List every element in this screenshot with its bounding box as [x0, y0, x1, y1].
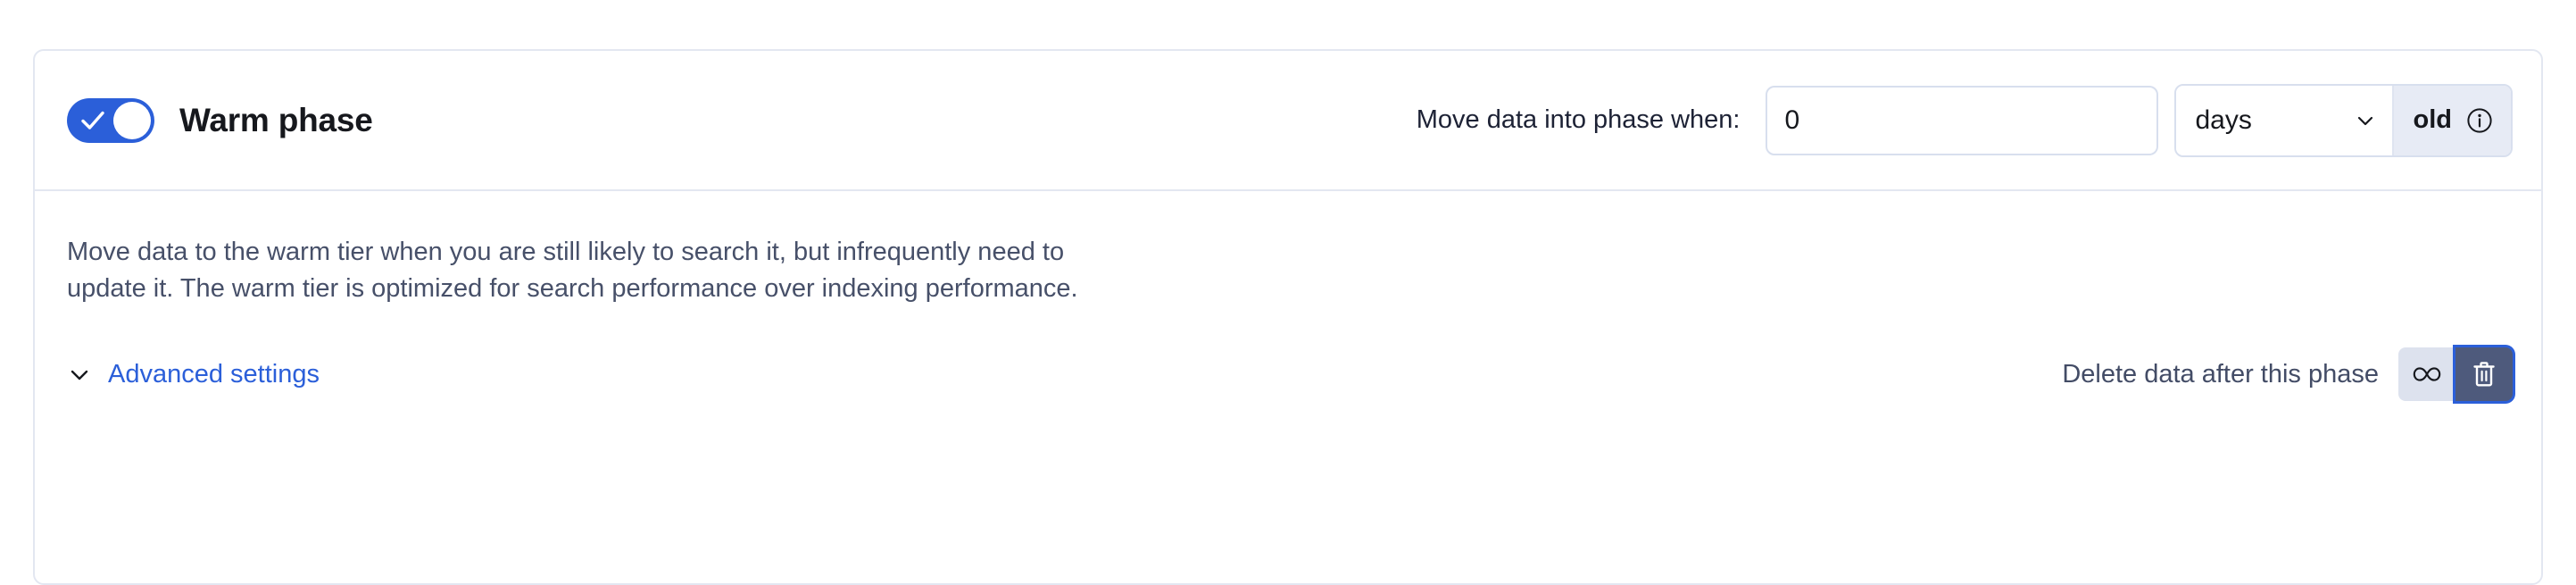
chevron-down-icon — [67, 362, 92, 387]
warm-phase-panel: Warm phase Move data into phase when: da… — [0, 0, 2576, 531]
check-icon — [81, 110, 104, 131]
advanced-settings-label: Advanced settings — [108, 360, 320, 389]
keep-data-forever-button[interactable] — [2398, 347, 2456, 401]
card-body: Move data to the warm tier when you are … — [35, 191, 2541, 401]
info-circle-icon[interactable] — [2466, 107, 2493, 134]
card-header: Warm phase Move data into phase when: da… — [35, 51, 2541, 191]
warm-phase-card: Warm phase Move data into phase when: da… — [33, 49, 2543, 585]
delete-phase-controls: Delete data after this phase — [2062, 347, 2513, 401]
page-title: Warm phase — [179, 102, 373, 139]
delete-data-label: Delete data after this phase — [2062, 360, 2379, 389]
min-age-units-value: days — [2196, 105, 2252, 136]
retention-button-group — [2398, 347, 2513, 401]
min-age-input[interactable] — [1766, 86, 2158, 155]
infinity-icon — [2412, 365, 2442, 383]
header-left-group: Warm phase — [67, 98, 373, 143]
chevron-down-icon — [2355, 110, 2376, 131]
min-age-units-group: days old — [2174, 84, 2514, 157]
card-footer-row: Advanced settings Delete data after this… — [67, 347, 2513, 401]
header-right-group: Move data into phase when: days old — [1417, 84, 2513, 157]
min-age-append: old — [2392, 86, 2512, 155]
min-age-append-label: old — [2414, 105, 2453, 135]
advanced-settings-toggle[interactable]: Advanced settings — [67, 360, 320, 389]
min-age-units-select[interactable]: days — [2176, 86, 2392, 155]
move-data-label: Move data into phase when: — [1417, 105, 1741, 135]
phase-description: Move data to the warm tier when you are … — [67, 234, 1138, 306]
trash-icon — [2472, 361, 2496, 388]
delete-data-button[interactable] — [2456, 347, 2513, 401]
warm-phase-toggle[interactable] — [67, 98, 154, 143]
toggle-knob — [113, 102, 151, 139]
